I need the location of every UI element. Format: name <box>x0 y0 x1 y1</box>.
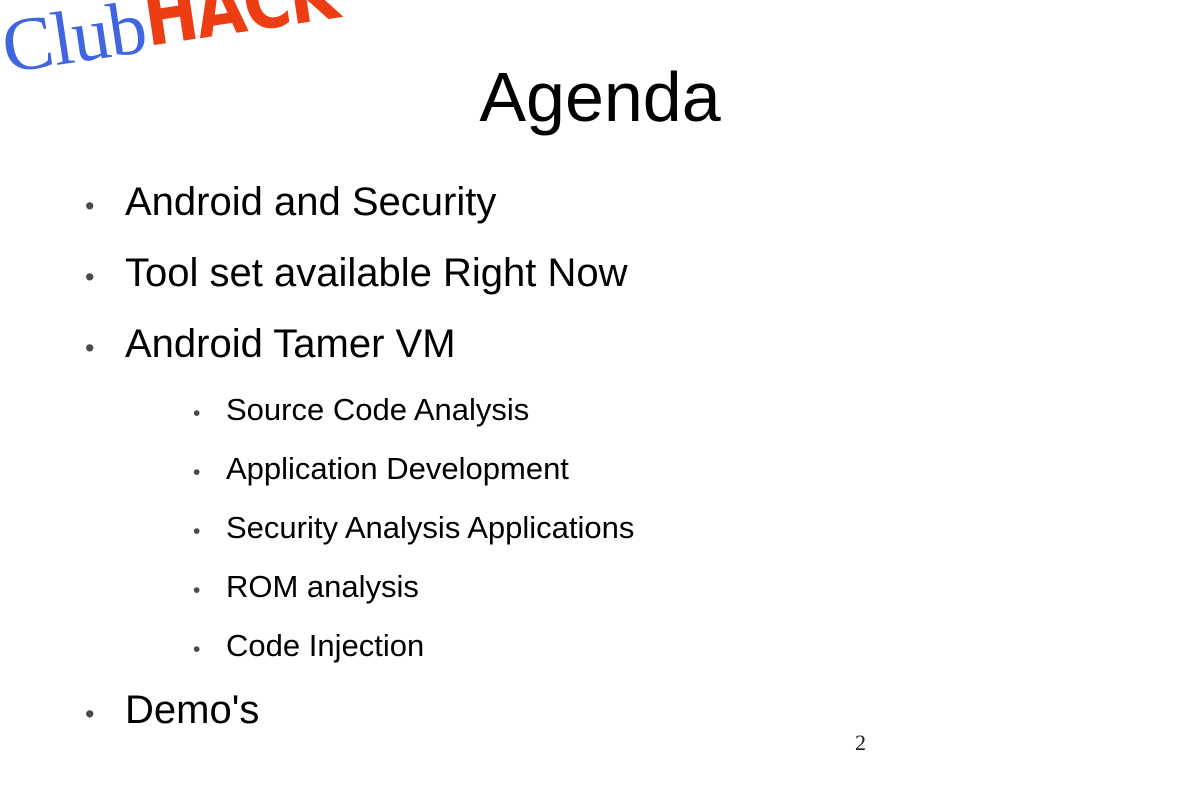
list-item-label: Source Code Analysis <box>226 393 529 427</box>
list-item-label: Demo's <box>125 688 259 732</box>
bullet-dot-icon: • <box>85 264 125 291</box>
logo-hack-text: HACK <box>138 0 341 58</box>
list-item: • ROM analysis <box>0 570 1200 629</box>
list-item: • Demo's <box>0 688 1200 759</box>
bullet-dot-icon: • <box>85 701 125 728</box>
bullet-dot-icon: • <box>193 580 226 601</box>
list-item-label: Security Analysis Applications <box>226 511 634 545</box>
list-item-label: Android Tamer VM <box>125 322 456 366</box>
bullet-dot-icon: • <box>85 193 125 220</box>
list-item: • Android and Security <box>0 180 1200 251</box>
list-item-label: Code Injection <box>226 629 424 663</box>
page-number: 2 <box>855 730 866 756</box>
list-item-label: ROM analysis <box>226 570 419 604</box>
list-item: • Security Analysis Applications <box>0 511 1200 570</box>
slide-title: Agenda <box>0 62 1200 132</box>
bullet-dot-icon: • <box>193 462 226 483</box>
bullet-dot-icon: • <box>85 335 125 362</box>
bullet-dot-icon: • <box>193 639 226 660</box>
list-item-label: Android and Security <box>125 180 496 224</box>
list-item: • Android Tamer VM <box>0 322 1200 393</box>
bullet-dot-icon: • <box>193 521 226 542</box>
list-item-label: Tool set available Right Now <box>125 251 627 295</box>
list-item: • Application Development <box>0 452 1200 511</box>
agenda-list: • Android and Security • Tool set availa… <box>0 180 1200 759</box>
slide-canvas: ClubHACK Agenda • Android and Security •… <box>0 0 1200 800</box>
list-item: • Tool set available Right Now <box>0 251 1200 322</box>
list-item: • Source Code Analysis <box>0 393 1200 452</box>
list-item: • Code Injection <box>0 629 1200 688</box>
list-item-label: Application Development <box>226 452 569 486</box>
bullet-dot-icon: • <box>193 403 226 424</box>
